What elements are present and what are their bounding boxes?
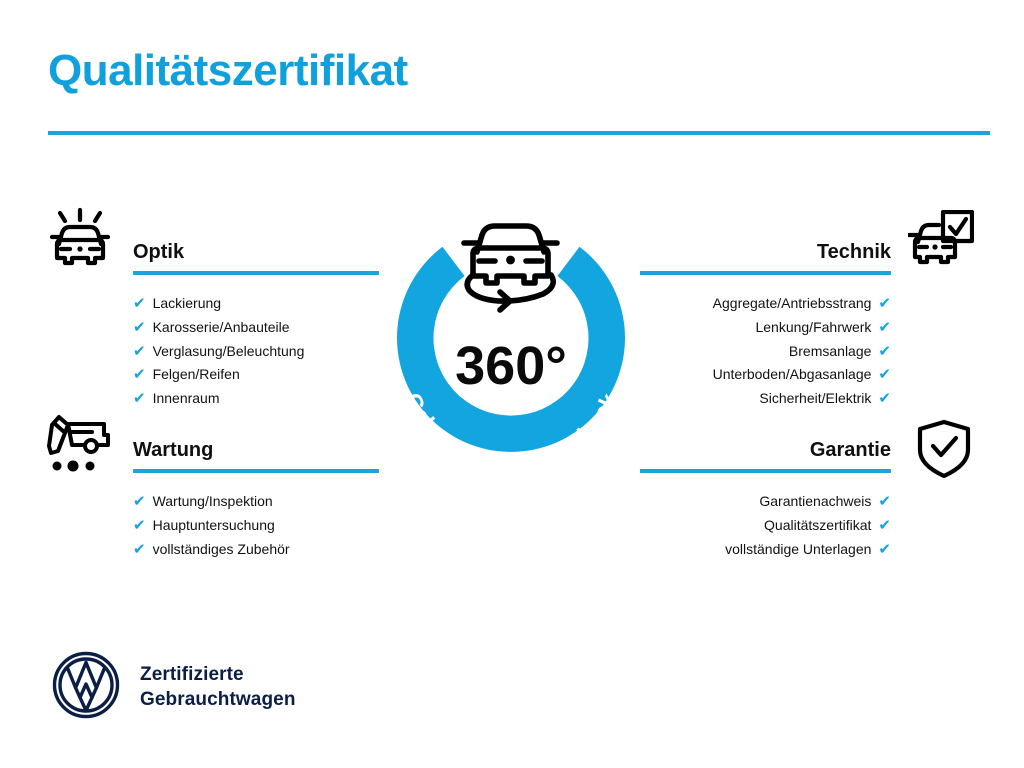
check-icon: ✔ [133,391,146,406]
page-title: Qualitätszertifikat [48,46,408,97]
list-item-label: Bremsanlage [789,340,872,364]
list-item: Bremsanlage✔ [640,340,891,364]
section-heading-wartung: Wartung [133,440,379,460]
list-item: ✔Innenraum [133,387,379,411]
section-divider-technik [640,271,891,275]
list-item-label: Lackierung [153,292,222,316]
badge-center-label: 360° [455,336,567,396]
list-item-label: Unterboden/Abgasanlage [713,363,872,387]
check-icon: ✔ [878,518,891,533]
list-item: Lenkung/Fahrwerk✔ [640,316,891,340]
list-item: Sicherheit/Elektrik✔ [640,387,891,411]
checklist-technik: Aggregate/Antriebsstrang✔ Lenkung/Fahrwe… [640,292,891,411]
car-front-rotate-icon [464,226,557,310]
check-icon: ✔ [878,344,891,359]
check-icon: ✔ [133,344,146,359]
list-item: Garantienachweis✔ [640,490,891,514]
check-icon: ✔ [878,542,891,557]
vw-certified-lockup: Zertifizierte Gebrauchtwagen [51,650,296,725]
shield-check-icon [916,418,972,485]
list-item: ✔Lackierung [133,292,379,316]
vw-roundel-logo [51,650,121,725]
check-icon: ✔ [878,296,891,311]
list-item-label: Lenkung/Fahrwerk [755,316,871,340]
list-item: Aggregate/Antriebsstrang✔ [640,292,891,316]
service-record-pen-car-icon [46,412,112,479]
check-icon: ✔ [878,494,891,509]
list-item-label: Sicherheit/Elektrik [759,387,871,411]
list-item: vollständige Unterlagen✔ [640,538,891,562]
360-check-badge: 360° Gebrauchtwagen-Check [370,196,652,488]
list-item-label: Qualitätszertifikat [764,514,871,538]
section-optik: Optik ✔Lackierung ✔Karosserie/Anbauteile… [133,242,379,411]
check-icon: ✔ [133,296,146,311]
list-item: ✔Wartung/Inspektion [133,490,379,514]
list-item-label: Felgen/Reifen [153,363,240,387]
check-icon: ✔ [878,320,891,335]
list-item: ✔Felgen/Reifen [133,363,379,387]
list-item-label: Verglasung/Beleuchtung [153,340,305,364]
check-icon: ✔ [133,542,146,557]
section-heading-optik: Optik [133,242,379,262]
section-wartung: Wartung ✔Wartung/Inspektion ✔Hauptunters… [133,440,379,561]
section-divider-garantie [640,469,891,473]
section-divider-wartung [133,469,379,473]
section-divider-optik [133,271,379,275]
vw-wordmark-line1: Zertifizierte [140,664,244,685]
checklist-garantie: Garantienachweis✔ Qualitätszertifikat✔ v… [640,490,891,561]
car-polish-shine-icon [46,206,114,279]
list-item: Qualitätszertifikat✔ [640,514,891,538]
checklist-optik: ✔Lackierung ✔Karosserie/Anbauteile ✔Verg… [133,292,379,411]
list-item-label: Wartung/Inspektion [153,490,273,514]
vw-wordmark-line2: Gebrauchtwagen [140,689,296,710]
car-checklist-icon [908,210,974,277]
check-icon: ✔ [133,320,146,335]
check-icon: ✔ [133,494,146,509]
check-icon: ✔ [878,367,891,382]
list-item-label: vollständige Unterlagen [725,538,871,562]
list-item: ✔Verglasung/Beleuchtung [133,340,379,364]
list-item-label: Hauptuntersuchung [153,514,275,538]
checklist-wartung: ✔Wartung/Inspektion ✔Hauptuntersuchung ✔… [133,490,379,561]
check-icon: ✔ [878,391,891,406]
section-technik: Technik Aggregate/Antriebsstrang✔ Lenkun… [640,242,891,411]
section-garantie: Garantie Garantienachweis✔ Qualitätszert… [640,440,891,561]
list-item: ✔vollständiges Zubehör [133,538,379,562]
list-item-label: Garantienachweis [759,490,871,514]
check-icon: ✔ [133,518,146,533]
list-item-label: vollständiges Zubehör [153,538,290,562]
list-item: Unterboden/Abgasanlage✔ [640,363,891,387]
section-heading-technik: Technik [640,242,891,262]
list-item-label: Karosserie/Anbauteile [153,316,290,340]
check-icon: ✔ [133,367,146,382]
section-heading-garantie: Garantie [640,440,891,460]
list-item-label: Aggregate/Antriebsstrang [713,292,872,316]
header-divider [48,131,990,135]
list-item-label: Innenraum [153,387,220,411]
list-item: ✔Hauptuntersuchung [133,514,379,538]
list-item: ✔Karosserie/Anbauteile [133,316,379,340]
vw-wordmark: Zertifizierte Gebrauchtwagen [140,663,296,712]
